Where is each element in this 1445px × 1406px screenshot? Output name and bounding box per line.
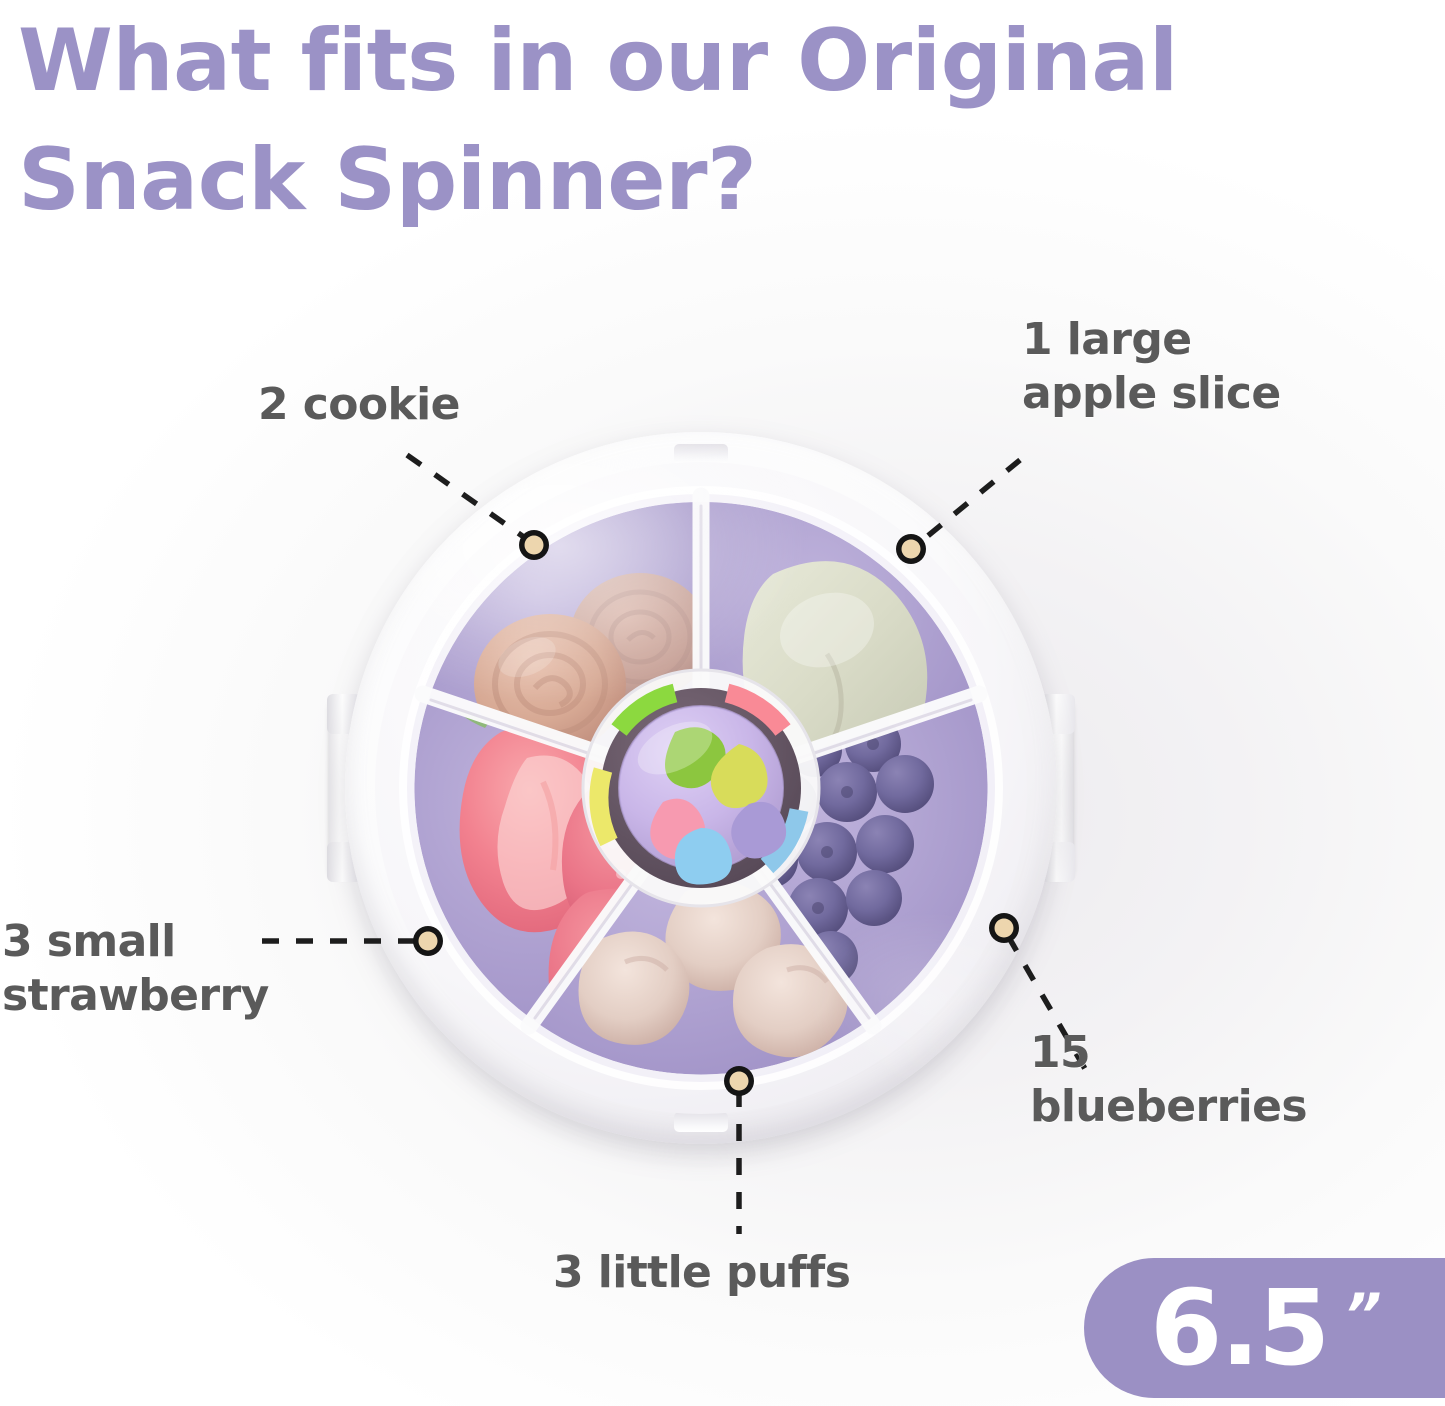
page-title: What fits in our Original Snack Spinner? <box>18 2 1428 239</box>
callout-label-puffs: 3 little puffs <box>553 1246 850 1300</box>
callout-label-cookie: 2 cookie <box>258 378 460 432</box>
callout-label-strawberry: 3 small strawberry <box>2 915 269 1022</box>
snack-spinner-product <box>345 432 1057 1144</box>
infographic-canvas: What fits in our Original Snack Spinner? <box>0 0 1445 1406</box>
lid-notch-top <box>674 444 728 464</box>
size-unit-inches: ” <box>1344 1286 1381 1344</box>
container-inner-well <box>375 462 1027 1114</box>
container-outer-rim <box>345 432 1057 1144</box>
headline-line-2: Snack Spinner? <box>18 121 1428 240</box>
size-badge: 6.5 ” <box>1084 1258 1445 1398</box>
lid-notch-bottom <box>674 1112 728 1132</box>
callout-label-blueberries: 15 blueberries <box>1030 1026 1307 1133</box>
headline-line-1: What fits in our Original <box>18 11 1178 111</box>
callout-label-apple: 1 large apple slice <box>1022 313 1281 420</box>
spinner-hub[interactable] <box>583 670 819 906</box>
compartment-tray <box>375 462 1027 1114</box>
size-value: 6.5 <box>1150 1276 1328 1380</box>
